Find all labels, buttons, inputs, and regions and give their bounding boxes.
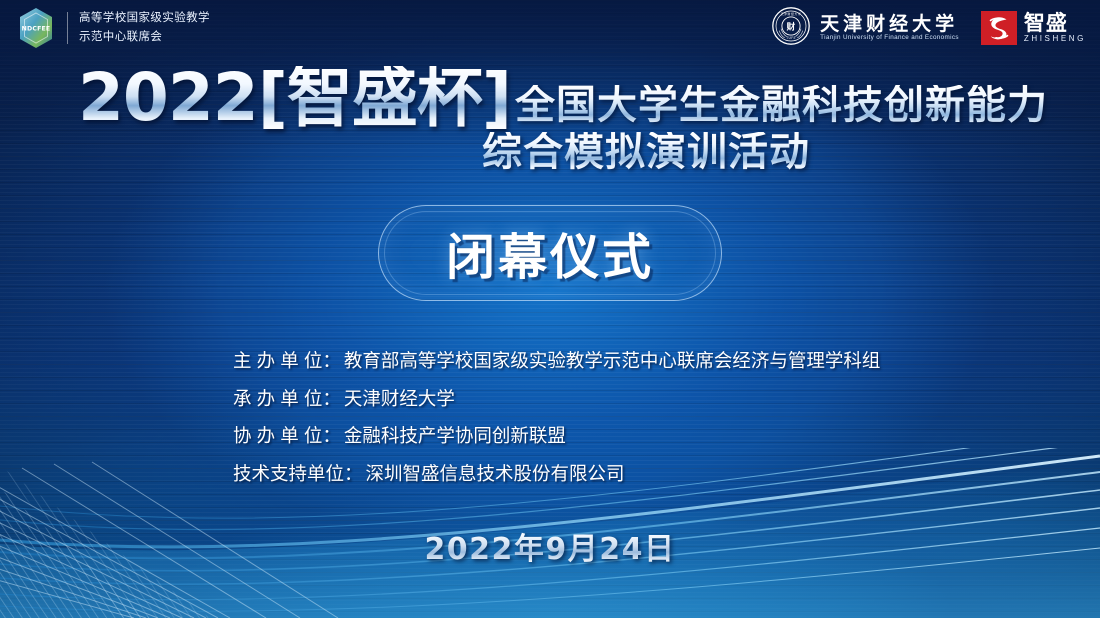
organizer-label: 协 办 单 位： [233,427,341,446]
host-org-line1: 高等学校国家级实验教学 [79,9,210,28]
organizer-value: 金融科技产学协同创新联盟 [344,427,566,446]
title-line-2: 综合模拟演训活动 [78,132,1100,172]
zhisheng-name-en: ZHISHENG [1024,35,1086,43]
organizer-label: 技术支持单位： [233,465,363,484]
tufe-branding: 财 TUFE 天津财经大学 天津财经大学 Tianjin University … [771,6,959,51]
tufe-name-block: 天津财经大学 Tianjin University of Finance and… [820,15,959,41]
zhisheng-branding: 智盛 ZHISHENG [981,11,1086,45]
zhisheng-red-mark [981,11,1017,45]
title-line-1: 2022[智盛杯] 全国大学生金融科技创新能力 [78,66,1100,130]
svg-text:TUFE: TUFE [785,36,796,40]
svg-text:NDCFEE: NDCFEE [22,26,51,33]
title-line1-rest: 全国大学生金融科技创新能力 [515,85,1048,130]
closing-ceremony-poster: NDCFEE 高等学校国家级实验教学 示范中心联席会 [0,0,1100,618]
host-org-line2: 示范中心联席会 [79,28,210,47]
zhisheng-name-cn: 智盛 [1024,13,1086,34]
partner-logos: 财 TUFE 天津财经大学 天津财经大学 Tianjin University … [771,6,1086,51]
poster-header: NDCFEE 高等学校国家级实验教学 示范中心联席会 [0,0,1100,56]
tufe-name-en: Tianjin University of Finance and Econom… [820,35,959,41]
host-org-name: 高等学校国家级实验教学 示范中心联席会 [79,9,210,46]
tufe-seal-logo: 财 TUFE 天津财经大学 [771,6,811,51]
tufe-name-cn: 天津财经大学 [820,15,959,34]
organizer-label: 承 办 单 位： [233,390,341,409]
ndcfee-hexagon-logo: NDCFEE [16,6,56,50]
svg-text:天津财经大学: 天津财经大学 [781,11,802,16]
event-badge-label: 闭幕仪式 [446,218,654,289]
svg-text:财: 财 [786,20,796,32]
organizer-label: 主 办 单 位： [233,352,341,371]
organizer-value: 天津财经大学 [344,390,455,409]
organizer-list: 主 办 单 位： 教育部高等学校国家级实验教学示范中心联席会经济与管理学科组 承… [233,352,880,502]
organizer-row: 承 办 单 位： 天津财经大学 [233,390,880,409]
zhisheng-name-block: 智盛 ZHISHENG [1024,13,1086,43]
event-badge: 闭幕仪式 [378,205,722,301]
organizer-row: 技术支持单位： 深圳智盛信息技术股份有限公司 [233,465,880,484]
organizer-value: 教育部高等学校国家级实验教学示范中心联席会经济与管理学科组 [344,352,881,371]
title-year-bracket: 2022[智盛杯] [78,66,511,130]
header-divider [67,12,68,44]
host-org-branding: NDCFEE 高等学校国家级实验教学 示范中心联席会 [16,6,210,50]
organizer-row: 主 办 单 位： 教育部高等学校国家级实验教学示范中心联席会经济与管理学科组 [233,352,880,371]
event-date: 2022年9月24日 [0,524,1100,568]
poster-title: 2022[智盛杯] 全国大学生金融科技创新能力 综合模拟演训活动 [0,66,1100,172]
organizer-row: 协 办 单 位： 金融科技产学协同创新联盟 [233,427,880,446]
organizer-value: 深圳智盛信息技术股份有限公司 [366,465,625,484]
